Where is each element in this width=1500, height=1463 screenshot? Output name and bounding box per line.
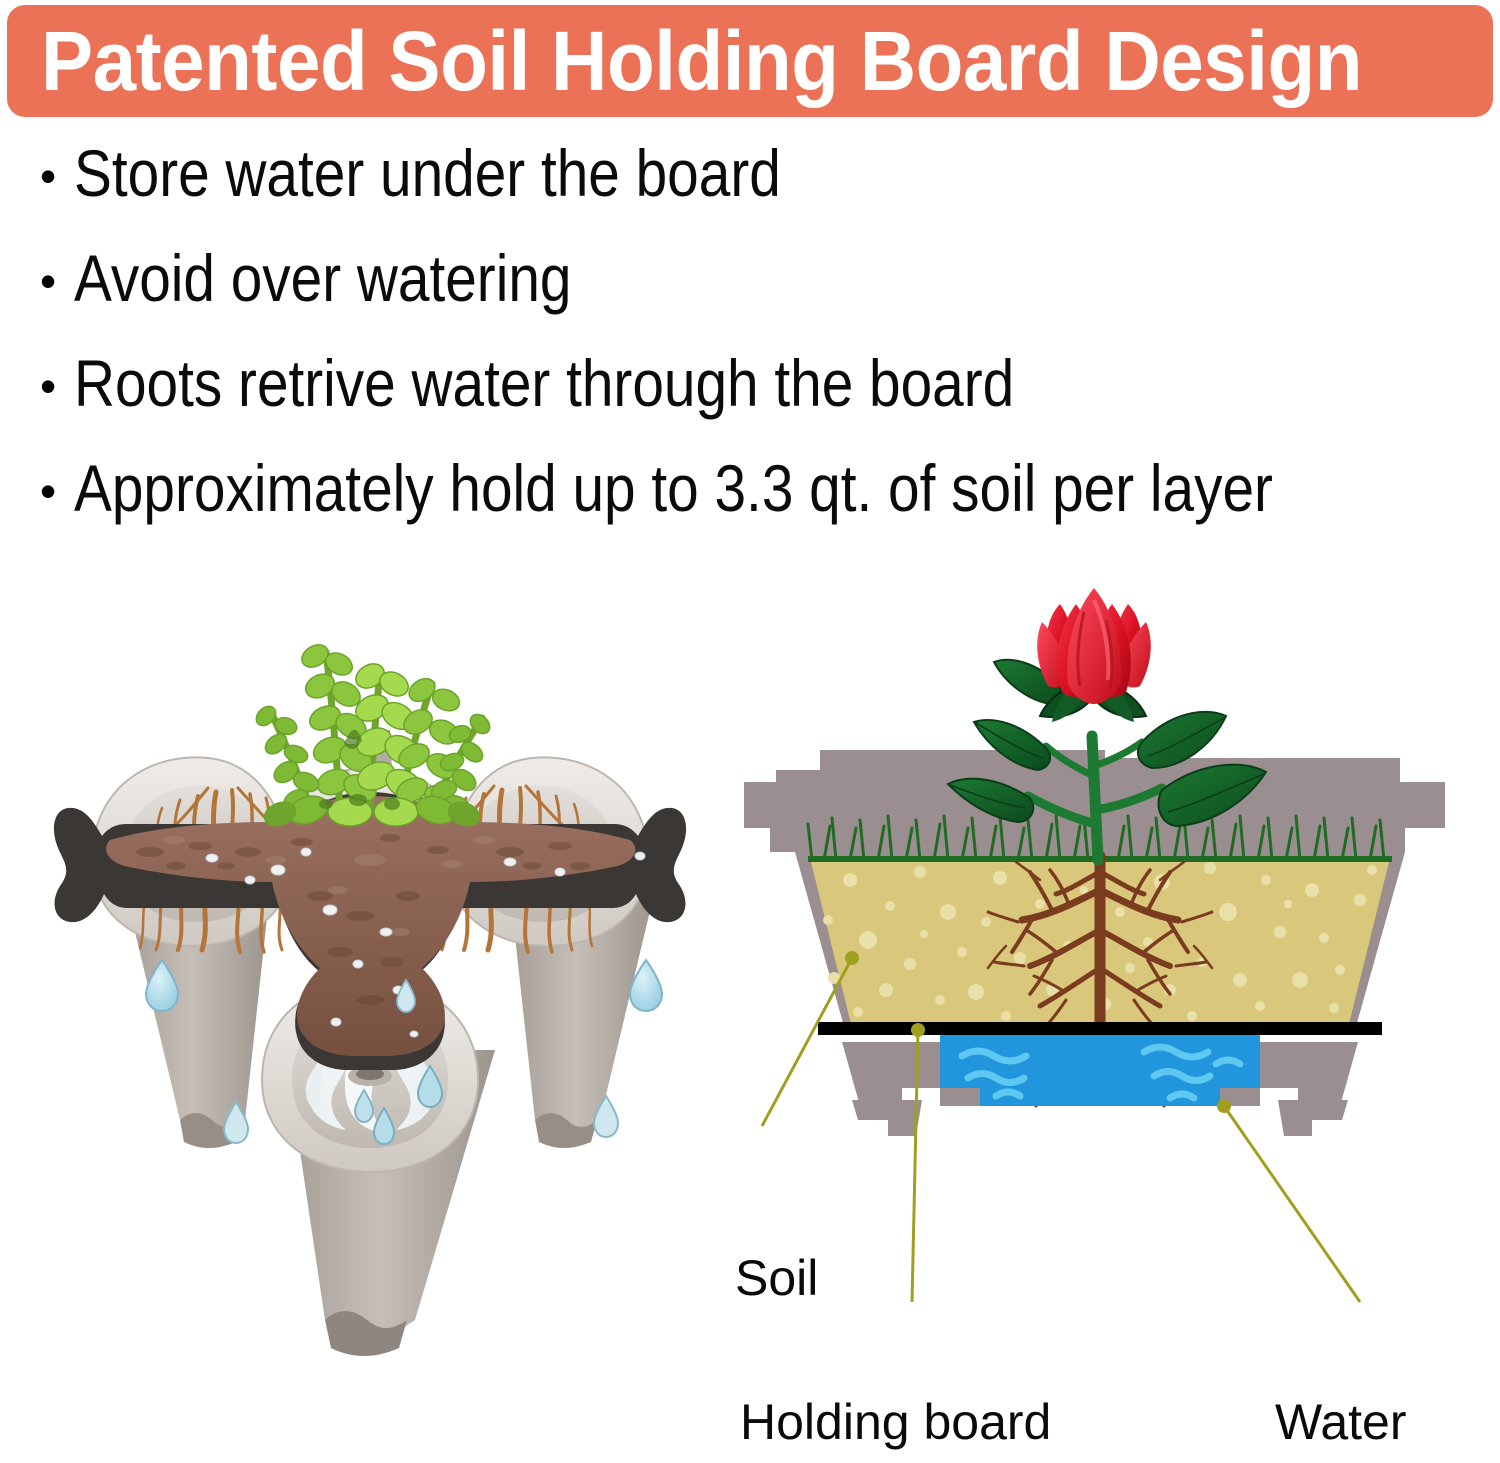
bullet-marker-icon: • <box>40 153 74 199</box>
stacking-planter-photo <box>40 560 740 1450</box>
bullet-marker-icon: • <box>40 363 74 409</box>
bullet-text: Avoid over watering <box>74 245 571 311</box>
water-reservoir <box>940 1034 1260 1106</box>
bullet-marker-icon: • <box>40 468 74 514</box>
list-item: • Store water under the board <box>40 140 1480 245</box>
feature-bullet-list: • Store water under the board • Avoid ov… <box>40 140 1480 560</box>
stacking-planter-illustration <box>40 560 740 1450</box>
bullet-text: Approximately hold up to 3.3 qt. of soil… <box>74 455 1273 521</box>
pot-cross-section-diagram <box>700 560 1500 1463</box>
list-item: • Roots retrive water through the board <box>40 350 1480 455</box>
rose-bloom-icon <box>1037 588 1151 704</box>
holding-board-bar <box>818 1022 1382 1035</box>
bullet-text: Roots retrive water through the board <box>74 350 1014 416</box>
list-item: • Avoid over watering <box>40 245 1480 350</box>
callout-label-holding-board: Holding board <box>740 1397 1051 1447</box>
pot-cross-section-illustration <box>700 560 1500 1463</box>
page-title: Patented Soil Holding Board Design <box>41 19 1362 103</box>
bullet-marker-icon: • <box>40 258 74 304</box>
header-banner: Patented Soil Holding Board Design <box>7 5 1493 117</box>
callout-label-soil: Soil <box>735 1253 818 1303</box>
bullet-text: Store water under the board <box>74 140 781 206</box>
callout-label-water: Water <box>1275 1397 1407 1447</box>
list-item: • Approximately hold up to 3.3 qt. of so… <box>40 455 1480 560</box>
